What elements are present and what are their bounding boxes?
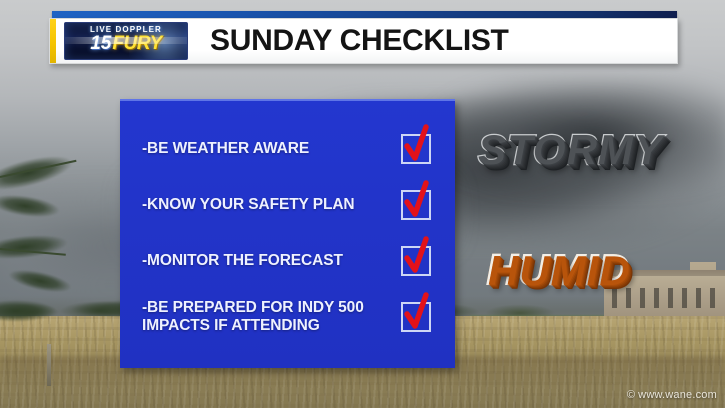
humid-label: HUMID [487,249,630,291]
checklist-row: -KNOW YOUR SAFETY PLAN [120,177,455,233]
fence-post [47,344,51,386]
checklist-item-label: -BE WEATHER AWARE [142,140,401,158]
stormy-label: STORMY [478,129,663,171]
title-banner: LIVE DOPPLER 15 FURY SUNDAY CHECKLIST [49,18,678,64]
banner-content: LIVE DOPPLER 15 FURY SUNDAY CHECKLIST [56,19,677,63]
watermark: ©www.wane.com [627,389,717,401]
weather-graphic-screenshot: ©www.wane.com LIVE DOPPLER 15 FURY SUNDA… [0,0,725,408]
checklist-panel: -BE WEATHER AWARE-KNOW YOUR SAFETY PLAN-… [120,99,455,368]
humid-label-text: HUMID [487,246,630,293]
checklist-item-label: -BE PREPARED FOR INDY 500 IMPACTS IF ATT… [142,299,401,336]
checklist-checkbox[interactable] [401,134,431,164]
live-doppler-15-fury-logo: LIVE DOPPLER 15 FURY [64,22,188,60]
checklist-rows: -BE WEATHER AWARE-KNOW YOUR SAFETY PLAN-… [120,121,455,368]
checklist-row: -MONITOR THE FORECAST [120,233,455,289]
tree-branch [0,300,56,322]
copyright-icon: © [627,389,635,401]
logo-sheen [64,37,188,44]
watermark-text: www.wane.com [638,389,717,401]
checklist-item-label: -MONITOR THE FORECAST [142,252,401,270]
checklist-checkbox[interactable] [401,302,431,332]
check-icon [400,293,434,335]
check-icon [400,237,434,279]
checklist-checkbox[interactable] [401,190,431,220]
page-title: SUNDAY CHECKLIST [210,24,509,58]
checklist-item-label: -KNOW YOUR SAFETY PLAN [142,196,401,214]
check-icon [400,125,434,167]
checklist-row: -BE PREPARED FOR INDY 500 IMPACTS IF ATT… [120,289,455,345]
checklist-checkbox[interactable] [401,246,431,276]
check-icon [400,181,434,223]
checklist-row: -BE WEATHER AWARE [120,121,455,177]
